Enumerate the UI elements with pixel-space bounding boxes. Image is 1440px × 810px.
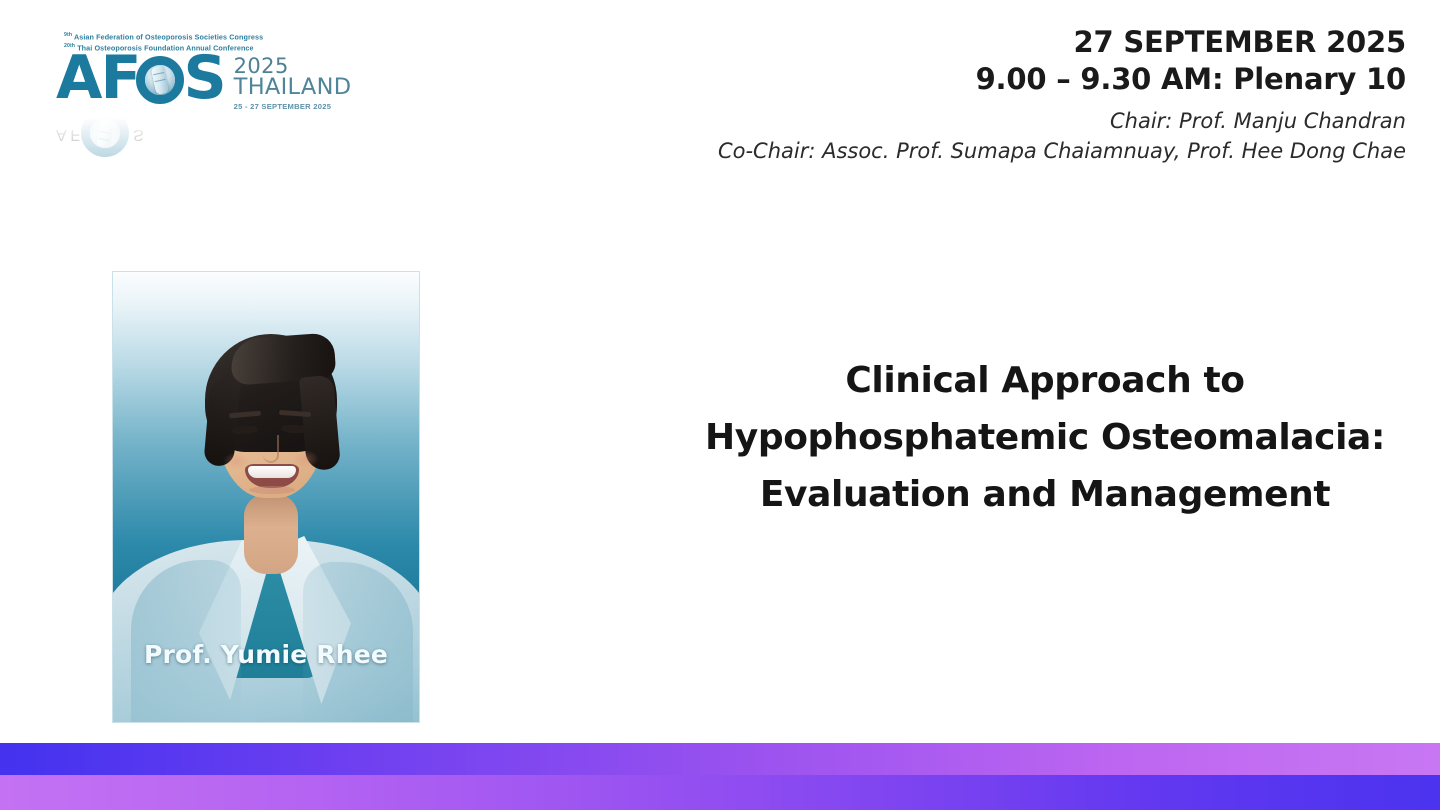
logo-tagline-line-1-text: Asian Federation of Osteoporosis Societi… xyxy=(74,32,263,41)
session-date: 27 SEPTEMBER 2025 xyxy=(566,24,1406,61)
portrait-neck-shadow xyxy=(244,494,298,528)
session-time-and-number: 9.00 – 9.30 AM: Plenary 10 xyxy=(566,61,1406,98)
portrait-teeth xyxy=(248,466,296,478)
talk-title-line-2: Hypophosphatemic Osteomalacia: xyxy=(680,409,1410,466)
session-header: 27 SEPTEMBER 2025 9.00 – 9.30 AM: Plenar… xyxy=(566,24,1406,167)
speaker-name: Prof. Yumie Rhee xyxy=(113,640,419,669)
afos-letter-s: S xyxy=(183,50,224,108)
vertebra-o-icon xyxy=(136,56,184,104)
afos-letter-a: A xyxy=(56,50,100,108)
talk-title-line-1: Clinical Approach to xyxy=(680,352,1410,409)
afos-wordmark-mirror: A F S xyxy=(56,114,144,158)
afos-congress-logo: 9th Asian Federation of Osteoporosis Soc… xyxy=(56,28,386,163)
session-co-chair: Co-Chair: Assoc. Prof. Sumapa Chaiamnuay… xyxy=(566,137,1406,167)
vertebra-bone-icon xyxy=(96,118,115,148)
speaker-card: Prof. Yumie Rhee xyxy=(113,272,419,722)
vertebra-o-background xyxy=(90,118,120,148)
logo-tagline-line-1-ordinal: 9th xyxy=(64,32,72,38)
afos-letter-f: F xyxy=(70,126,80,143)
afos-letter-s: S xyxy=(133,126,144,143)
footer-gradient-bar-top xyxy=(0,743,1440,775)
portrait-lower-lip xyxy=(249,486,295,494)
footer-gradient-bar-bottom xyxy=(0,775,1440,810)
afos-letter-a: A xyxy=(56,126,66,143)
session-chair: Chair: Prof. Manju Chandran xyxy=(566,107,1406,137)
logo-country: THAILAND xyxy=(234,76,352,100)
logo-right-block: 2025 THAILAND 25 - 27 SEPTEMBER 2025 xyxy=(234,50,352,111)
logo-main: A F S 2025 THAILAND 25 - 27 SEPTEMBER 20… xyxy=(56,50,351,111)
logo-reflection: A F S xyxy=(56,114,144,158)
logo-dates: 25 - 27 SEPTEMBER 2025 xyxy=(234,102,352,111)
logo-tagline-line-1: 9th Asian Federation of Osteoporosis Soc… xyxy=(64,32,364,43)
afos-wordmark: A F S xyxy=(56,50,225,108)
afos-wordmark-mirror-inner: A F S xyxy=(56,114,144,158)
talk-title-line-3: Evaluation and Management xyxy=(680,466,1410,523)
presentation-slide: 9th Asian Federation of Osteoporosis Soc… xyxy=(0,0,1440,810)
afos-letter-f: F xyxy=(100,50,139,108)
talk-title: Clinical Approach to Hypophosphatemic Os… xyxy=(680,352,1410,524)
vertebra-o-icon xyxy=(81,114,129,157)
portrait-nose xyxy=(263,435,279,463)
